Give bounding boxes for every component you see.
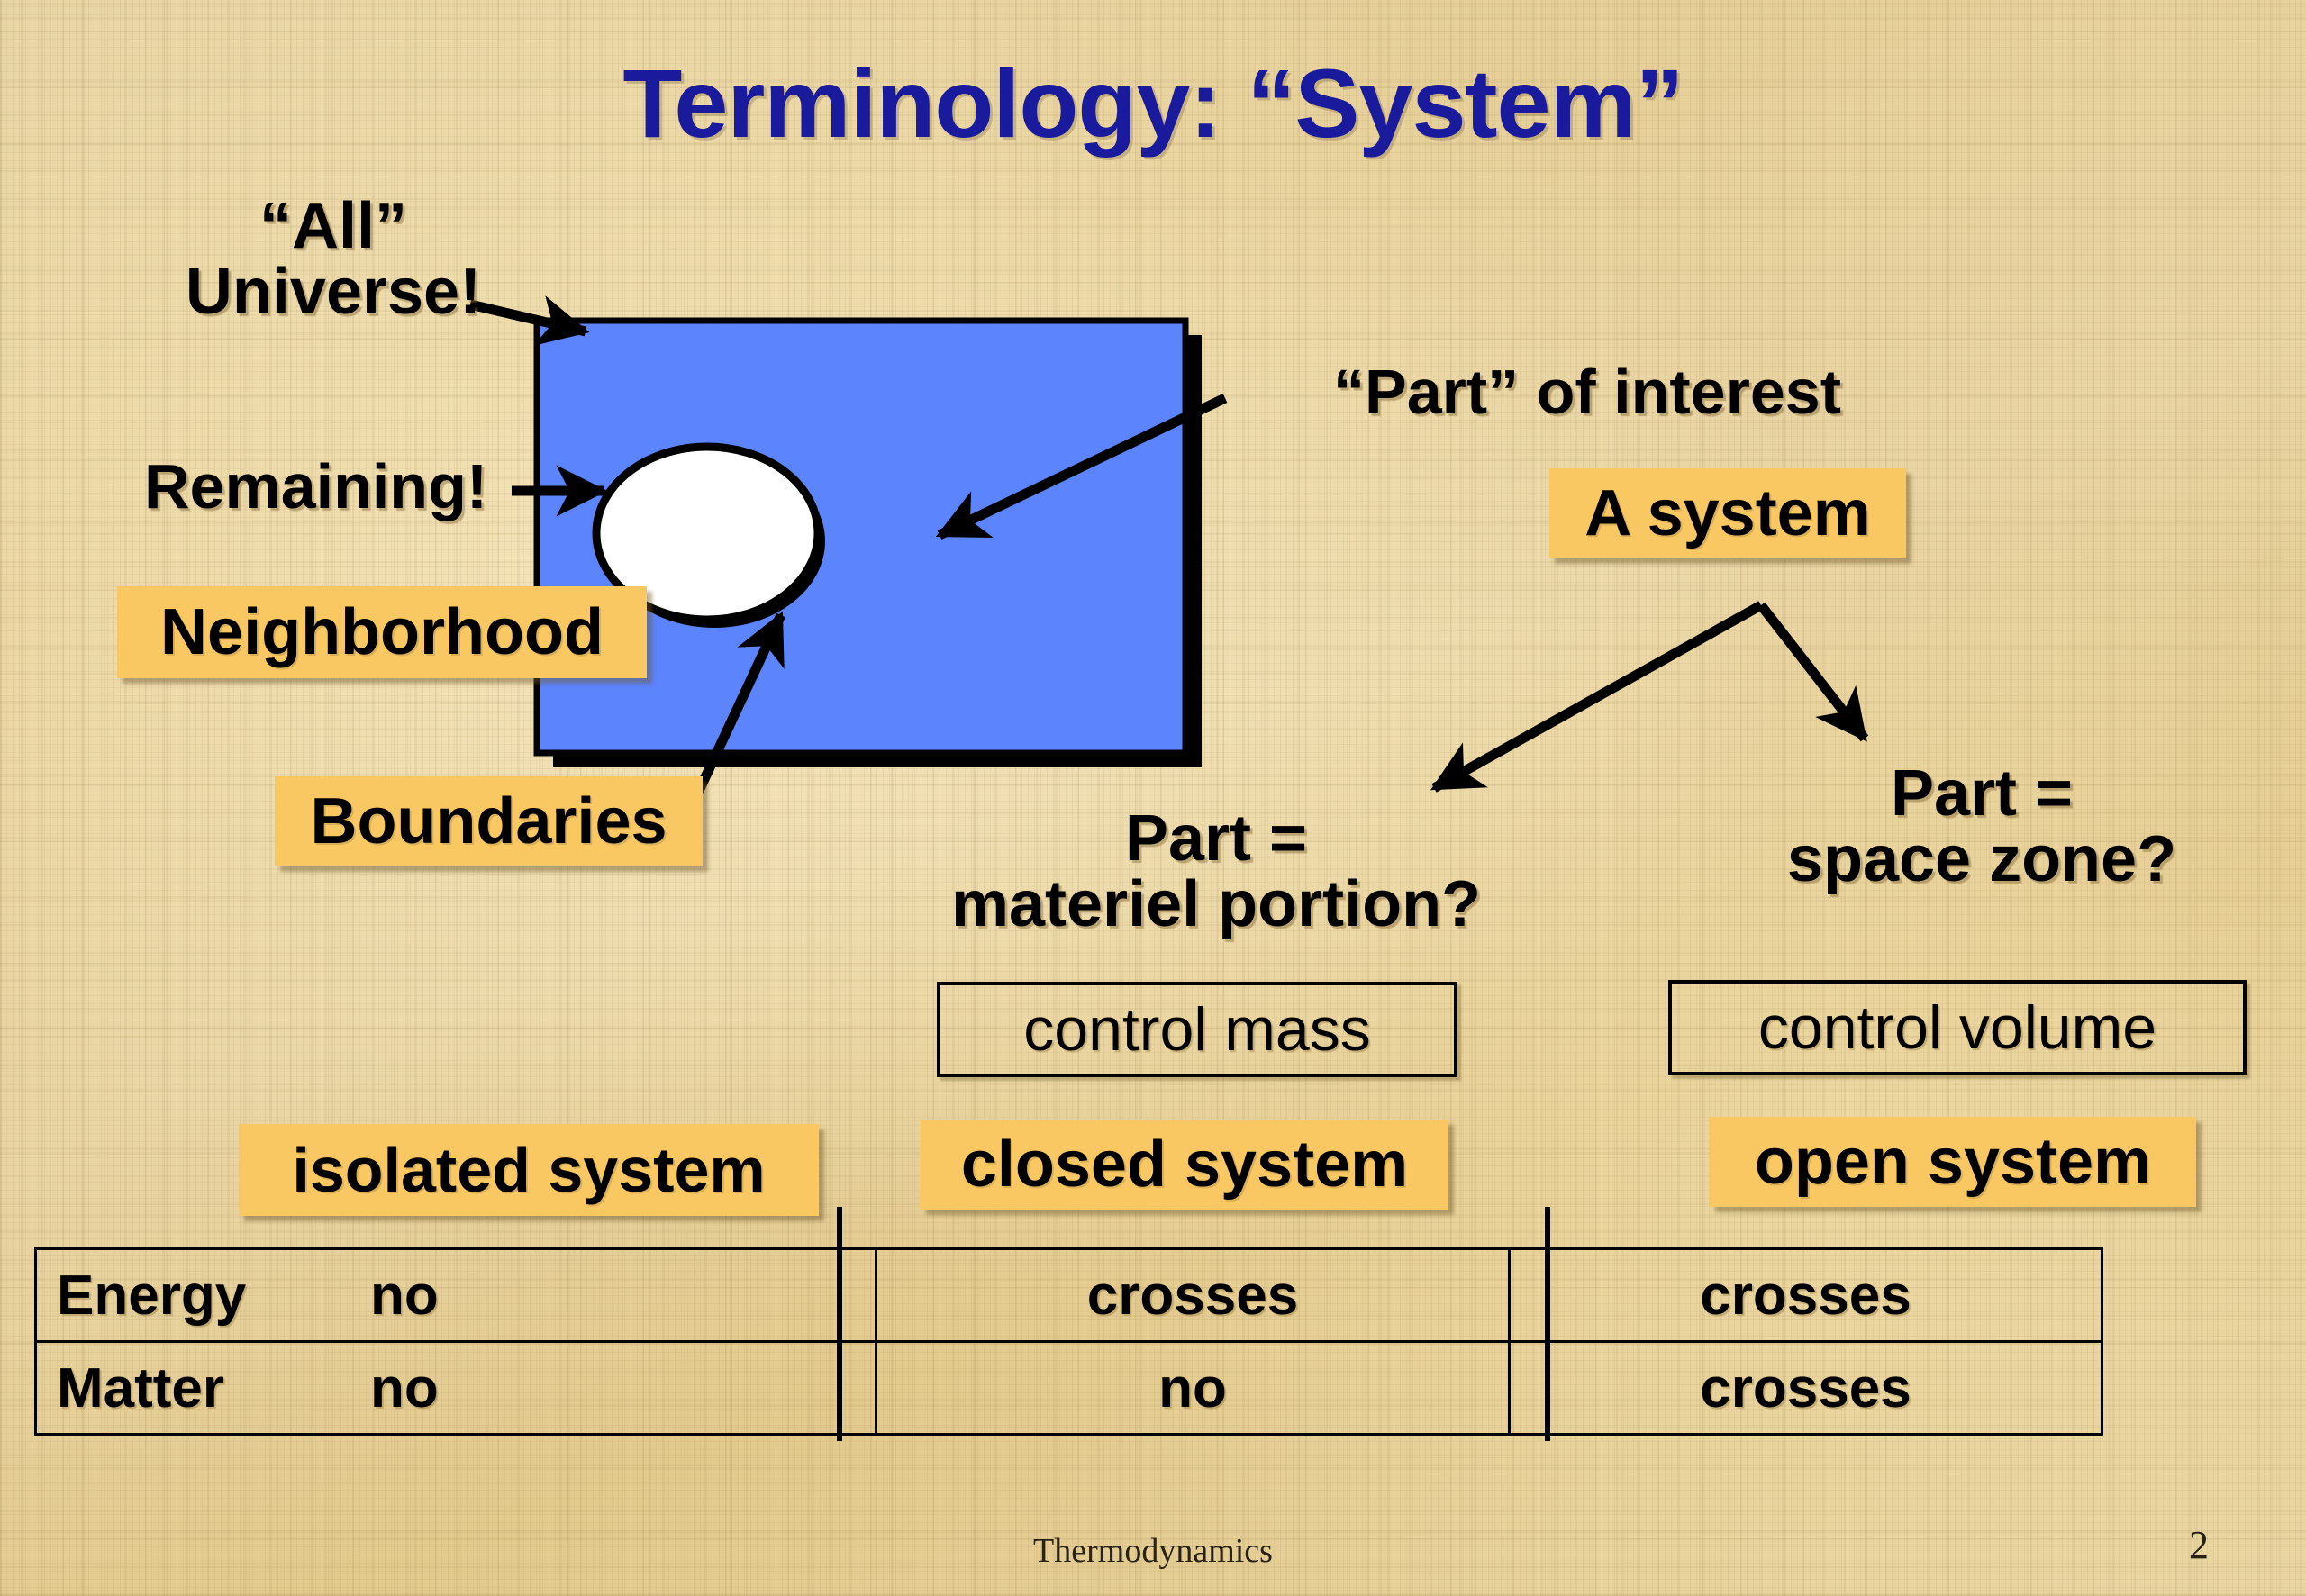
cell-closed: crosses [876,1249,1510,1342]
universe-rect [537,321,1185,753]
universe-rect-shadow [553,335,1202,767]
box-control-mass: control mass [937,982,1457,1077]
arrow-part-of-interest [940,398,1225,535]
highlight-closed-system: closed system [921,1120,1448,1210]
highlight-a-system: A system [1549,468,1906,558]
comparison-table-body: Energy no crosses crosses Matter no no c… [36,1249,2102,1435]
cell-property: Energy [36,1249,355,1342]
arrow-boundaries [698,615,781,793]
highlight-open-system: open system [1710,1117,2196,1207]
slide-canvas: Terminology: “System” [0,0,2306,1596]
label-part-material-portion: Part = materiel portion? [901,806,1531,939]
highlight-isolated-system: isolated system [239,1124,819,1216]
box-control-volume: control volume [1668,980,2247,1075]
page-title: Terminology: “System” [0,47,2306,159]
page-number: 2 [2189,1522,2261,1568]
cell-open: crosses [1510,1249,2102,1342]
table-row: Matter no no crosses [36,1342,2102,1435]
arrow-branch-right [1761,605,1865,739]
cell-property: Matter [36,1342,355,1435]
cell-closed: no [876,1342,1510,1435]
comparison-table: Energy no crosses crosses Matter no no c… [34,1247,2103,1436]
footer-text: Thermodynamics [0,1531,2306,1571]
label-part-space-zone: Part = space zone? [1693,761,2270,893]
label-part-of-interest: “Part” of interest [1333,360,1964,424]
cell-isolated: no [354,1249,876,1342]
cell-open: crosses [1510,1342,2102,1435]
table-row: Energy no crosses crosses [36,1249,2102,1342]
cell-isolated: no [354,1342,876,1435]
highlight-neighborhood: Neighborhood [117,586,647,678]
label-remaining: Remaining! [144,455,549,519]
highlight-boundaries: Boundaries [275,776,703,866]
label-all-universe: “All” Universe! [144,194,522,326]
